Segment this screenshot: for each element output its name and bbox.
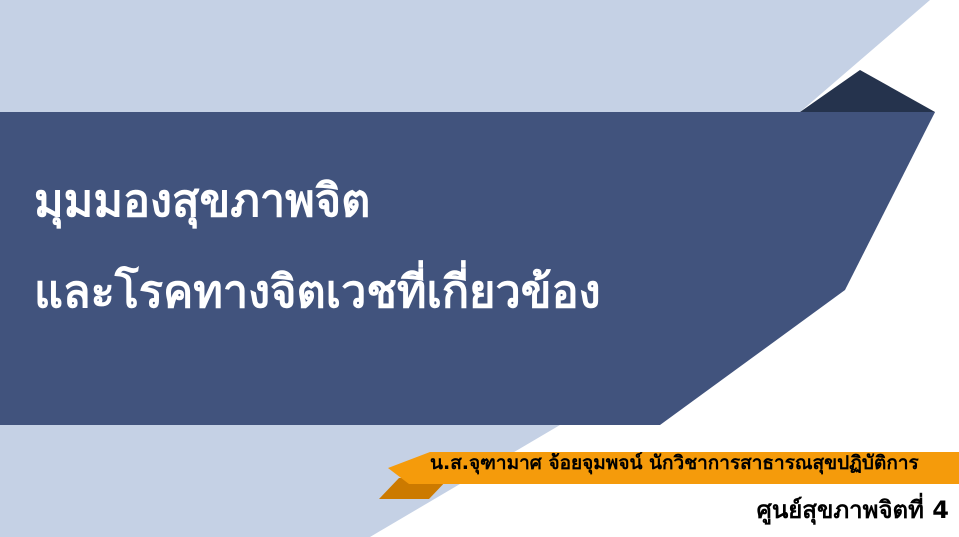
presenter-name: น.ส.จุฑามาศ จ้อยจุมพจน์ นักวิชาการสาธารณ… (430, 450, 959, 476)
title-line-2: และโรคทางจิตเวชที่เกี่ยวข้อง (34, 269, 734, 314)
title-line-1: มุมมองสุขภาพจิต (34, 178, 734, 223)
top-light-blue-band (0, 0, 930, 112)
presentation-slide: มุมมองสุขภาพจิต และโรคทางจิตเวชที่เกี่ยว… (0, 0, 959, 537)
slide-title: มุมมองสุขภาพจิต และโรคทางจิตเวชที่เกี่ยว… (34, 178, 734, 314)
organization-name: ศูนย์สุขภาพจิตที่ 4 (757, 494, 949, 526)
